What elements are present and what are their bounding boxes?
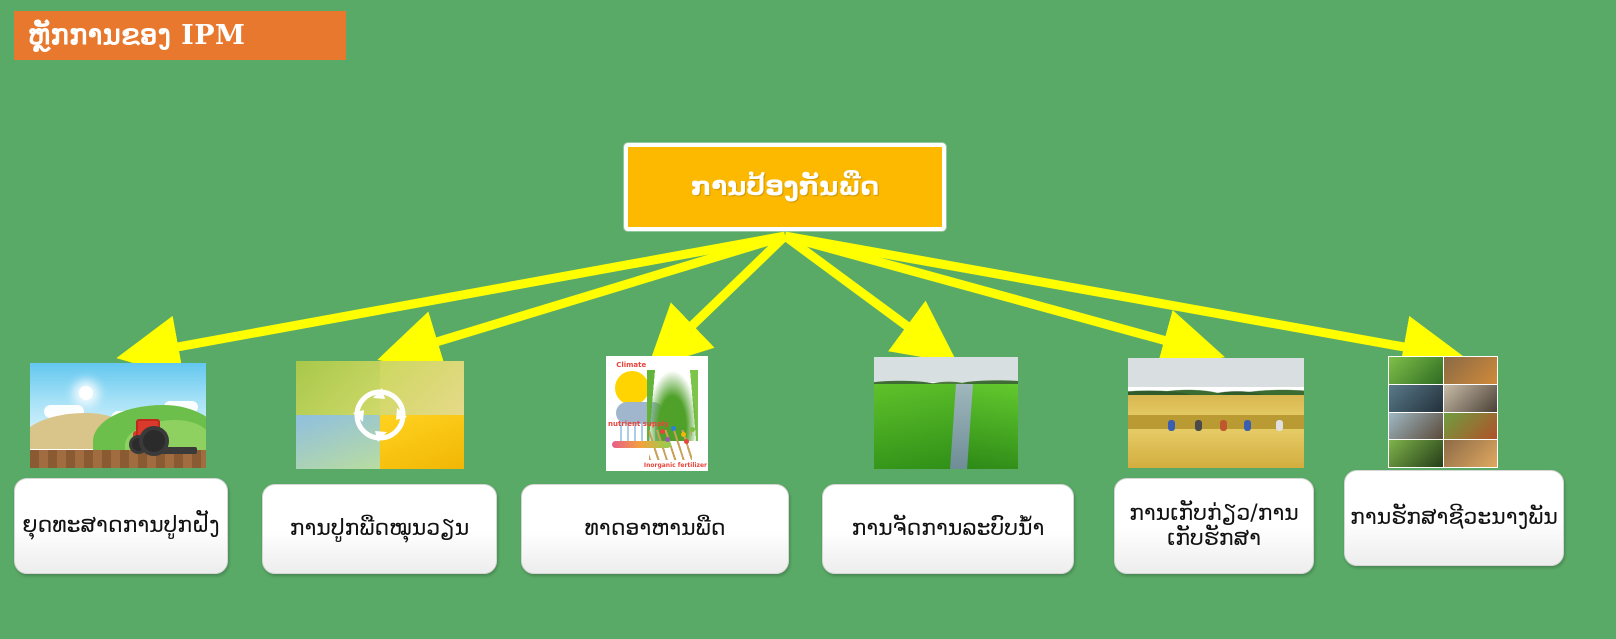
root-node-label: ການປ້ອງກັນພືດ: [691, 172, 879, 202]
branch-4-box[interactable]: ການຈັດການລະບົບນ້ຳ: [822, 484, 1074, 574]
branch-2-box[interactable]: ການປູກພືດໝຸນວຽນ: [262, 484, 497, 574]
branch-6-label: ການຮັກສາຊີວະນາງພັນ: [1350, 505, 1558, 530]
branch-6-image: [1388, 356, 1498, 468]
branch-6-box[interactable]: ການຮັກສາຊີວະນາງພັນ: [1344, 470, 1564, 566]
branch-3-box[interactable]: ທາດອາຫານພືດ: [521, 484, 789, 574]
branch-5-label: ການເກັບກ່ຽວ/ການເກັບຮັກສາ: [1115, 501, 1313, 552]
branch-2-label: ການປູກພືດໝຸນວຽນ: [290, 516, 470, 541]
arrow-to-branch-4: [785, 236, 930, 343]
branch-3-label: ທາດອາຫານພືດ: [585, 516, 726, 541]
branch-1-image: [30, 363, 206, 468]
branch-4-label: ການຈັດການລະບົບນ້ຳ: [852, 516, 1045, 541]
root-node[interactable]: ການປ້ອງກັນພືດ: [624, 143, 946, 231]
insect-photo-grid: [1388, 356, 1498, 468]
branch-3-image-text-climate: Climate: [616, 361, 646, 369]
branch-3-image: Climate nutrient supply Inorganic fertil…: [606, 356, 708, 471]
branch-1-box[interactable]: ຍຸດທະສາດການປູກຝັງ: [14, 478, 228, 574]
arrow-to-branch-1: [150, 236, 785, 352]
slide-canvas: ຫຼັກການຂອງ IPM ການປ້ອງກັນພືດ: [0, 0, 1616, 639]
branch-5-box[interactable]: ການເກັບກ່ຽວ/ການເກັບຮັກສາ: [1114, 478, 1314, 574]
branch-3-image-text-nutrient: nutrient supply: [608, 420, 669, 428]
page-title: ຫຼັກການຂອງ IPM: [28, 20, 245, 51]
arrow-to-branch-2: [410, 236, 785, 350]
branch-2-image: [296, 361, 464, 469]
title-banner: ຫຼັກການຂອງ IPM: [14, 11, 346, 60]
arrow-to-branch-5: [785, 236, 1192, 348]
branch-4-image: [874, 357, 1018, 469]
branch-3-image-text-fertilizer: Inorganic fertilizer: [644, 462, 707, 469]
arrow-to-branch-3: [672, 236, 785, 345]
rotation-arrows-icon: [349, 384, 411, 446]
arrow-to-branch-6: [785, 236, 1432, 352]
branch-5-image: [1128, 358, 1304, 468]
branch-1-label: ຍຸດທະສາດການປູກຝັງ: [22, 513, 219, 538]
